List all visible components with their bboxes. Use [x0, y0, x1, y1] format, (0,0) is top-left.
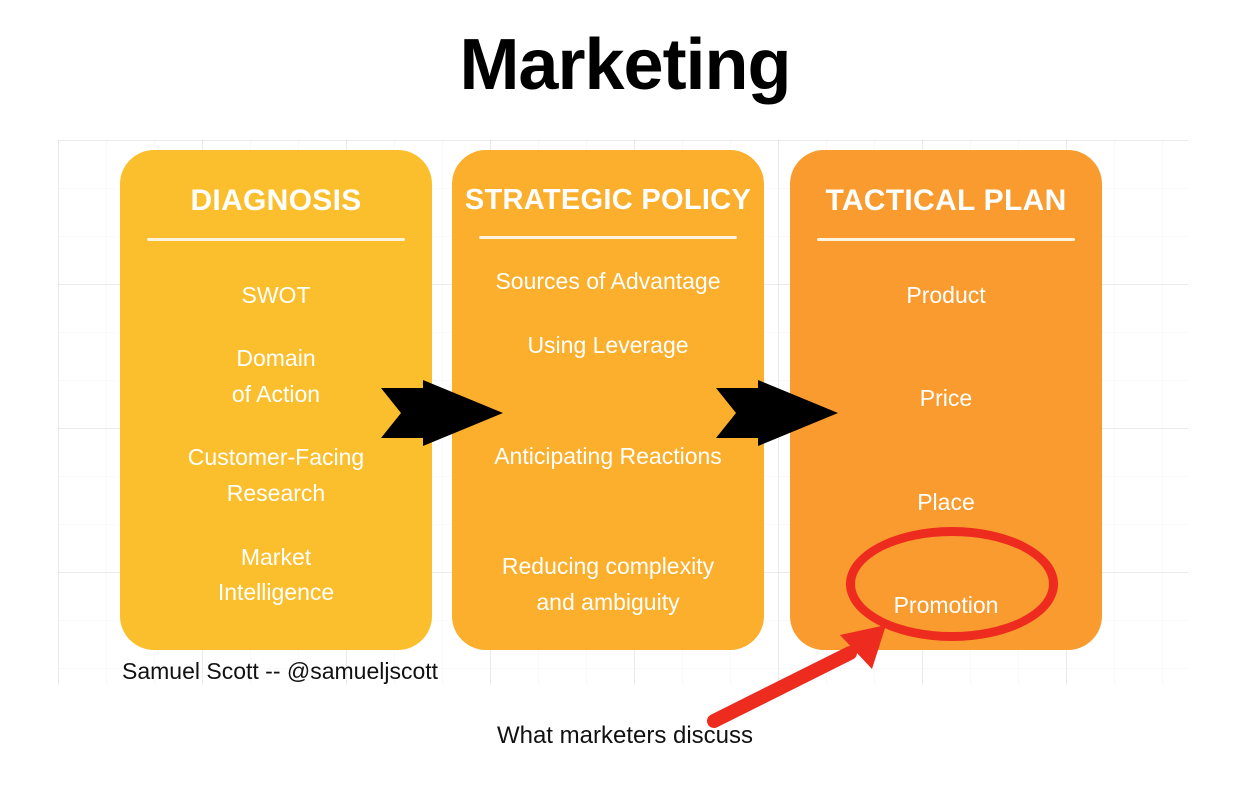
page-title: Marketing — [0, 26, 1250, 105]
panel-strategic-policy-divider — [479, 236, 737, 239]
right-arrow-icon — [716, 380, 838, 446]
list-item: Domain of Action — [134, 341, 418, 412]
panel-tactical-plan-divider — [817, 238, 1075, 241]
list-item: Customer-Facing Research — [134, 440, 418, 511]
list-item: Sources of Advantage — [466, 264, 750, 300]
list-item: SWOT — [134, 278, 418, 314]
list-item: Using Leverage — [466, 328, 750, 364]
list-item: Anticipating Reactions — [466, 439, 750, 475]
list-item: Place — [804, 485, 1088, 521]
slide-canvas: Marketing DIAGNOSIS SWOT Domain of Actio… — [0, 0, 1250, 786]
list-item: Market Intelligence — [134, 540, 418, 611]
panel-diagnosis-divider — [147, 238, 405, 241]
panel-strategic-policy-heading: STRATEGIC POLICY — [452, 184, 764, 217]
list-item: Price — [804, 381, 1088, 417]
annotation-caption: What marketers discuss — [0, 722, 1250, 750]
list-item: Product — [804, 278, 1088, 314]
list-item: Reducing complexity and ambiguity — [466, 549, 750, 620]
right-arrow-icon — [381, 380, 503, 446]
red-pointer-arrow-icon — [700, 625, 890, 730]
panel-tactical-plan-heading: TACTICAL PLAN — [790, 184, 1102, 219]
attribution-text: Samuel Scott -- @samueljscott — [122, 658, 438, 685]
panel-diagnosis-heading: DIAGNOSIS — [120, 184, 432, 219]
red-ellipse-highlight-icon — [846, 527, 1058, 641]
